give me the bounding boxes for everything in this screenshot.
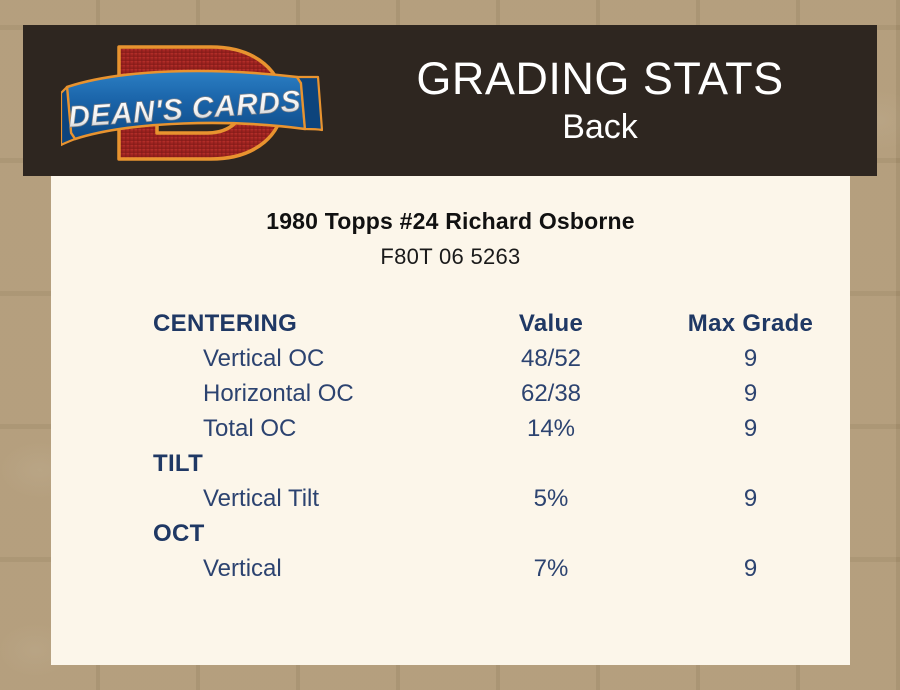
header-bar: DEAN'S CARDS GRADING STATS Back	[23, 25, 877, 176]
table-row: Vertical OC48/529	[51, 341, 850, 376]
page-subtitle: Back	[562, 106, 638, 148]
table-row: Horizontal OC62/389	[51, 376, 850, 411]
table-row: Total OC14%9	[51, 411, 850, 446]
deans-cards-logo[interactable]: DEAN'S CARDS	[61, 33, 323, 173]
row-max-grade: 9	[651, 411, 850, 446]
grading-stats-table: CENTERINGValueMax GradeVertical OC48/529…	[51, 306, 850, 586]
row-value: 14%	[451, 411, 651, 446]
row-label: Horizontal OC	[51, 376, 451, 411]
row-label: Vertical	[51, 551, 451, 586]
section-header-oct: OCT	[51, 516, 451, 551]
table-row: Vertical7%9	[51, 551, 850, 586]
section-header-row: CENTERINGValueMax Grade	[51, 306, 850, 341]
row-value: 7%	[451, 551, 651, 586]
row-max-grade: 9	[651, 551, 850, 586]
column-header-value: Value	[451, 306, 651, 341]
section-header-centering: CENTERING	[51, 306, 451, 341]
card-serial-number: F80T 06 5263	[51, 244, 850, 270]
column-header-max-grade-spacer	[651, 446, 850, 481]
header-title-group: GRADING STATS Back	[323, 25, 877, 176]
row-value: 5%	[451, 481, 651, 516]
column-header-max-grade-spacer	[651, 516, 850, 551]
row-max-grade: 9	[651, 341, 850, 376]
column-header-value-spacer	[451, 516, 651, 551]
section-header-row: OCT	[51, 516, 850, 551]
section-header-tilt: TILT	[51, 446, 451, 481]
column-header-value-spacer	[451, 446, 651, 481]
row-value: 48/52	[451, 341, 651, 376]
column-header-max-grade: Max Grade	[651, 306, 850, 341]
content-panel: 1980 Topps #24 Richard Osborne F80T 06 5…	[51, 176, 850, 665]
section-header-row: TILT	[51, 446, 850, 481]
row-max-grade: 9	[651, 376, 850, 411]
row-value: 62/38	[451, 376, 651, 411]
table-row: Vertical Tilt5%9	[51, 481, 850, 516]
page-title: GRADING STATS	[416, 54, 783, 104]
row-label: Vertical Tilt	[51, 481, 451, 516]
card-title: 1980 Topps #24 Richard Osborne	[51, 208, 850, 235]
row-label: Total OC	[51, 411, 451, 446]
row-max-grade: 9	[651, 481, 850, 516]
row-label: Vertical OC	[51, 341, 451, 376]
